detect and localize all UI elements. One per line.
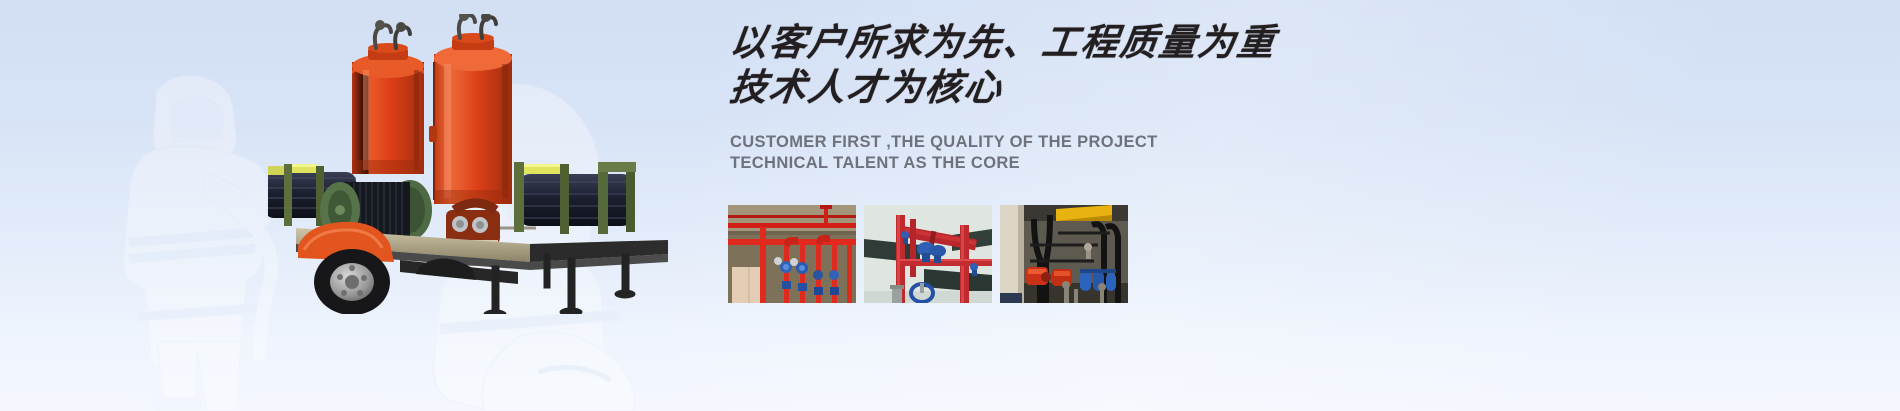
thumbnail-red-sprinkler-piping[interactable] — [728, 205, 856, 303]
thumbnail-boiler-room-burners[interactable] — [1000, 205, 1128, 303]
hose-bundle-right — [518, 174, 634, 226]
pressure-tank-right — [429, 14, 512, 204]
banner-copy-block: 以客户所求为先、工程质量为重 技术人才为核心 CUSTOMER FIRST ,T… — [728, 20, 1428, 174]
headline-chinese-line-1: 以客户所求为先、工程质量为重 — [727, 20, 1431, 65]
subheadline-english-block: CUSTOMER FIRST ,THE QUALITY OF THE PROJE… — [730, 132, 1428, 174]
trailer-mounted-fire-fighting-unit-image — [268, 14, 668, 314]
firefighter-with-hose-watermark — [95, 42, 285, 411]
pressure-tank-left — [352, 20, 424, 174]
trailer-wheel — [314, 249, 390, 314]
project-thumbnail-row — [728, 205, 1128, 303]
subheadline-english-line-1: CUSTOMER FIRST ,THE QUALITY OF THE PROJE… — [730, 132, 1428, 153]
subheadline-english-line-2: TECHNICAL TALENT AS THE CORE — [730, 153, 1428, 174]
headline-chinese-line-2: 技术人才为核心 — [727, 65, 1431, 110]
hero-banner: 以客户所求为先、工程质量为重 技术人才为核心 CUSTOMER FIRST ,T… — [0, 0, 1900, 411]
thumbnail-red-fire-mains-stairwell[interactable] — [864, 205, 992, 303]
